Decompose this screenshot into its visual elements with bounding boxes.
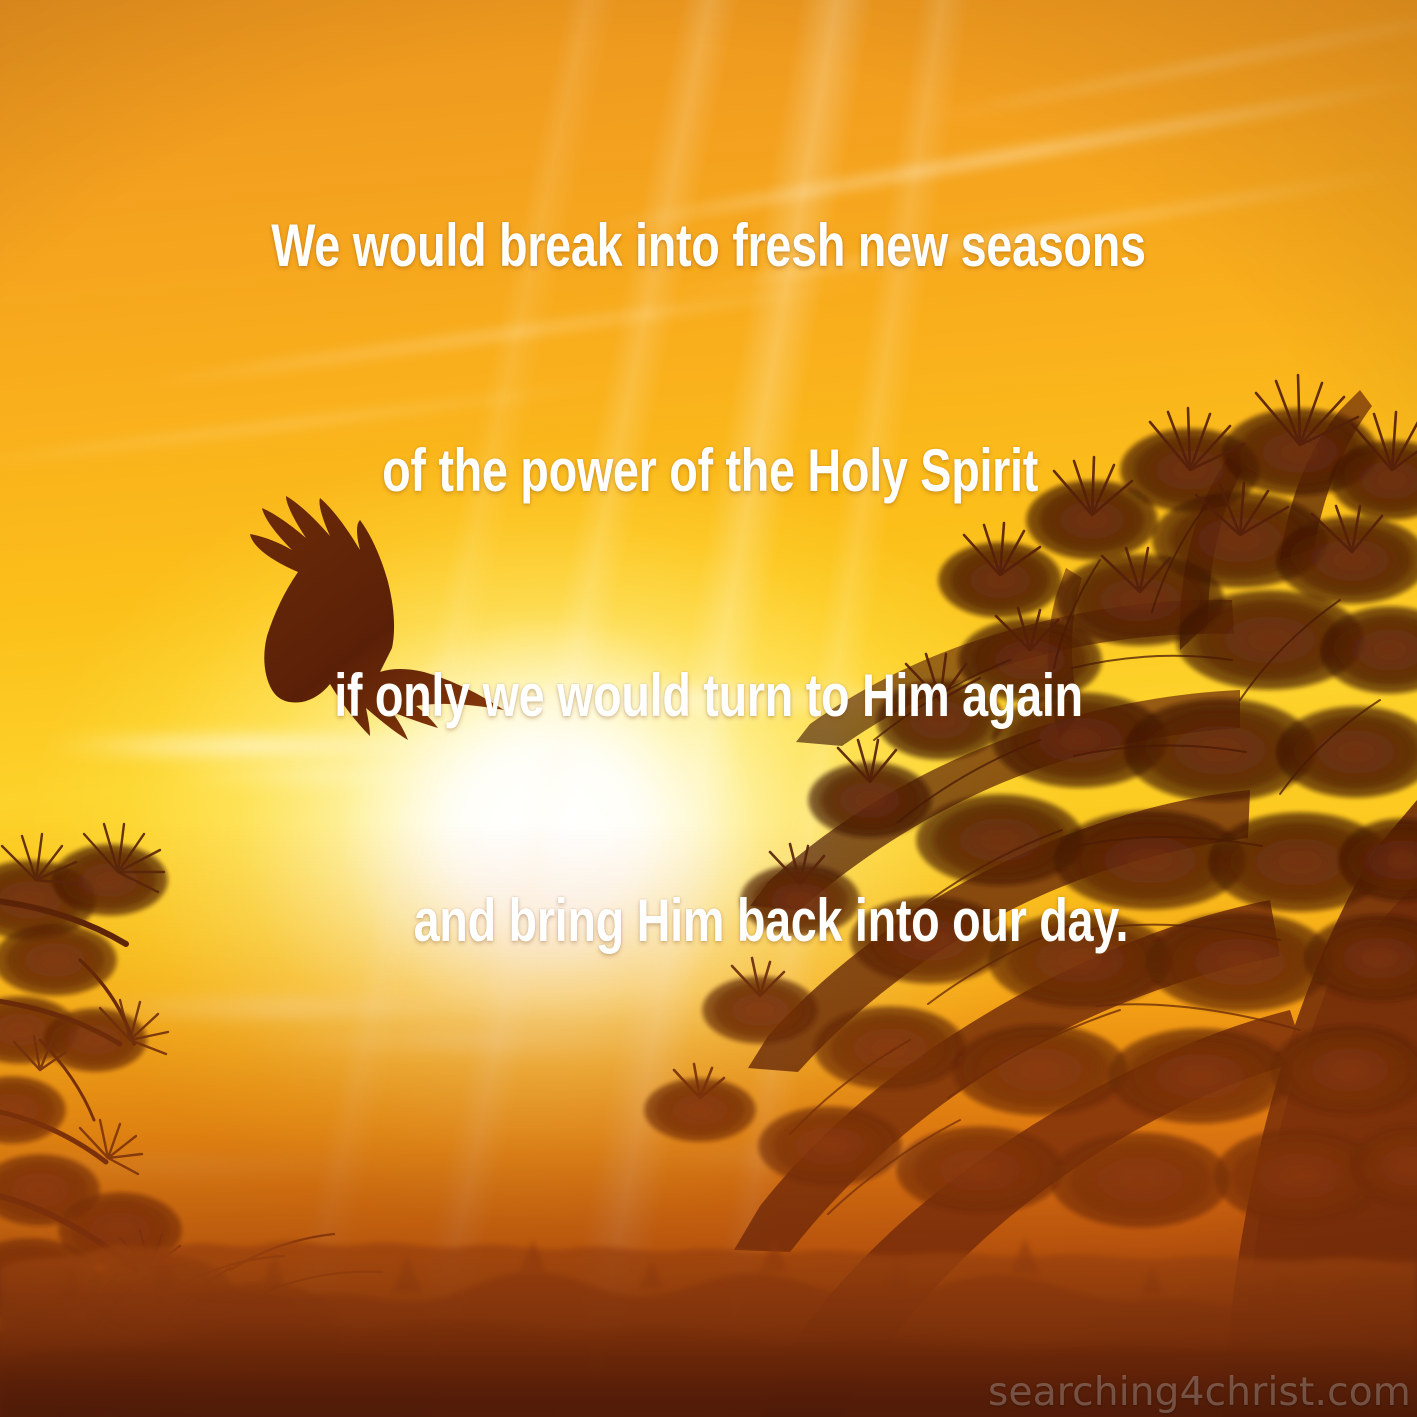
quote-text: We would break into fresh new seasons of… <box>156 58 1261 1108</box>
quote-line-4: and bring Him back into our day. <box>156 883 1261 958</box>
sunset-quote-image: We would break into fresh new seasons of… <box>0 0 1417 1417</box>
site-watermark: searching4christ.com <box>988 1370 1411 1415</box>
quote-line-2: of the power of the Holy Spirit <box>156 433 1261 508</box>
quote-line-1: We would break into fresh new seasons <box>156 208 1261 283</box>
quote-line-3: if only we would turn to Him again <box>156 658 1261 733</box>
